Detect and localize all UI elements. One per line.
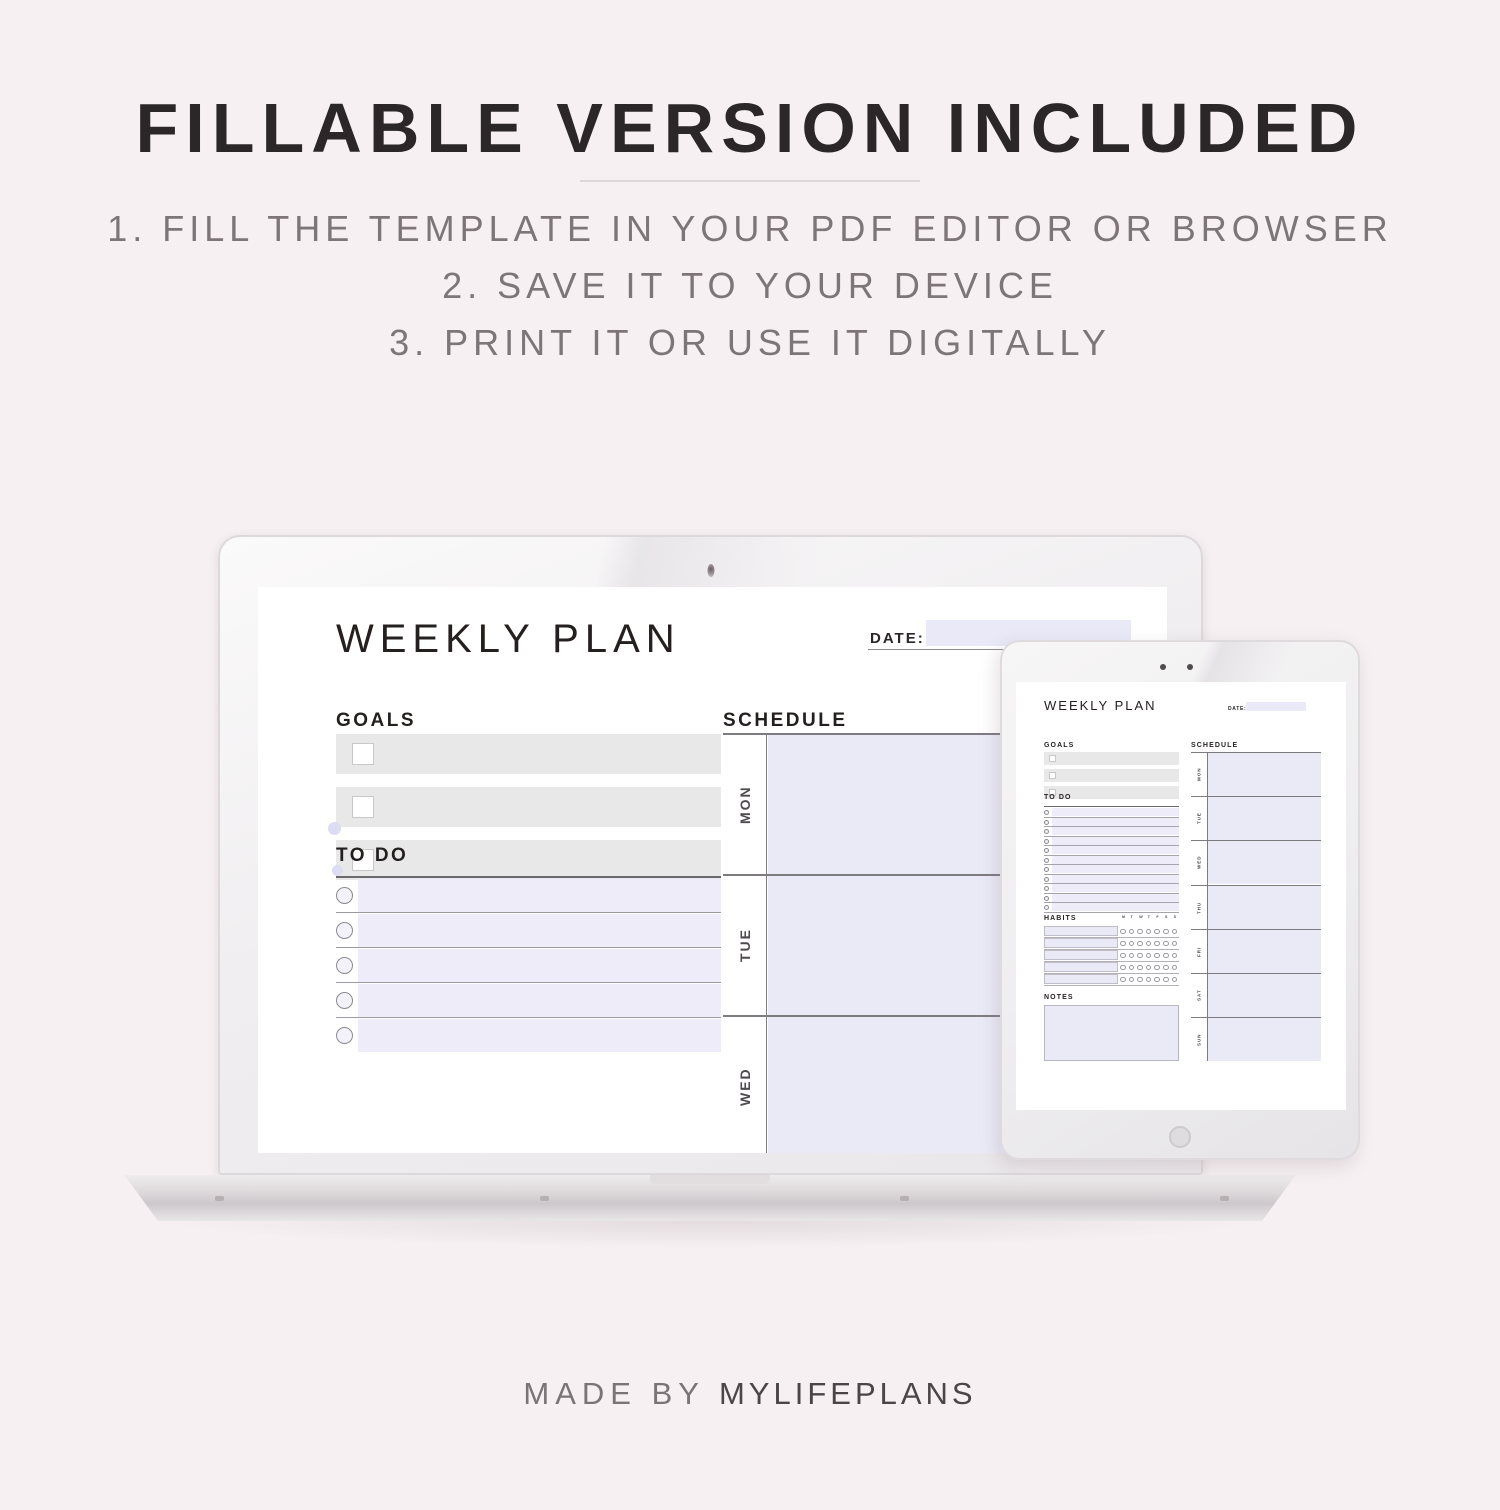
habit-checkbox[interactable]	[1129, 941, 1135, 947]
todo-checkbox[interactable]	[1044, 848, 1049, 853]
todo-row-rule	[336, 982, 721, 983]
schedule-day-label-wed: WED	[1192, 841, 1206, 884]
goal-checkbox[interactable]	[352, 743, 374, 765]
todo-top-rule	[1044, 806, 1179, 807]
tablet-frame: WEEKLY PLAN DATE: GOALS TO DO HABITS MTW…	[1000, 640, 1360, 1160]
todo-checkbox[interactable]	[1044, 905, 1049, 910]
habit-checkbox[interactable]	[1137, 977, 1143, 983]
schedule-day-label-sun: SUN	[1192, 1018, 1206, 1061]
goal-row[interactable]	[1044, 752, 1179, 765]
habit-checkbox[interactable]	[1172, 941, 1178, 947]
habits-heading: HABITS	[1044, 915, 1077, 922]
todo-heading: TO DO	[1044, 794, 1072, 801]
todo-row[interactable]	[358, 984, 721, 1017]
habit-checkbox[interactable]	[1154, 953, 1160, 959]
todo-row[interactable]	[1052, 865, 1179, 873]
laptop-hinge-notch	[650, 1175, 770, 1184]
schedule-day-label-tue: TUE	[728, 876, 762, 1015]
laptop-foot	[900, 1196, 909, 1201]
todo-row[interactable]	[1052, 894, 1179, 902]
instruction-step-1: 1. FILL THE TEMPLATE IN YOUR PDF EDITOR …	[0, 200, 1500, 257]
todo-checkbox[interactable]	[336, 992, 353, 1009]
todo-row[interactable]	[358, 1019, 721, 1052]
date-label: DATE:	[1228, 706, 1246, 712]
todo-checkbox[interactable]	[1044, 896, 1049, 901]
habit-row[interactable]	[1044, 926, 1118, 936]
habit-day-initial: T	[1148, 915, 1150, 919]
todo-row-rule	[336, 912, 721, 913]
goals-heading: GOALS	[336, 710, 416, 732]
habit-checkbox[interactable]	[1172, 929, 1178, 935]
schedule-row-rule	[1191, 973, 1321, 974]
todo-checkbox[interactable]	[336, 1027, 353, 1044]
todo-row[interactable]	[358, 914, 721, 947]
todo-top-rule	[336, 876, 721, 878]
goal-checkbox[interactable]	[1049, 755, 1056, 762]
habit-row[interactable]	[1044, 950, 1118, 960]
schedule-cell[interactable]	[1208, 797, 1321, 840]
habit-checkbox[interactable]	[1163, 965, 1169, 971]
goal-row[interactable]	[336, 787, 721, 827]
schedule-cell[interactable]	[1208, 1018, 1321, 1061]
habit-checkbox[interactable]	[1137, 941, 1143, 947]
habit-row-rule	[1044, 985, 1179, 986]
goals-heading: GOALS	[1044, 742, 1074, 749]
todo-checkbox[interactable]	[336, 957, 353, 974]
habit-checkbox[interactable]	[1163, 977, 1169, 983]
habit-row[interactable]	[1044, 962, 1118, 972]
todo-row[interactable]	[1052, 827, 1179, 835]
habit-day-initial: F	[1156, 915, 1158, 919]
todo-row-rule	[336, 947, 721, 948]
schedule-row-rule	[1191, 1017, 1321, 1018]
todo-row[interactable]	[358, 879, 721, 912]
todo-checkbox[interactable]	[1044, 886, 1049, 891]
webcam-icon	[707, 564, 714, 577]
laptop-drop-shadow	[170, 1221, 1250, 1247]
schedule-row-rule	[1191, 885, 1321, 886]
habit-row[interactable]	[1044, 974, 1118, 984]
schedule-row-rule	[1191, 929, 1321, 930]
todo-checkbox[interactable]	[1044, 810, 1049, 815]
habit-checkbox[interactable]	[1163, 941, 1169, 947]
habit-checkbox[interactable]	[1129, 965, 1135, 971]
habit-row-rule	[1044, 949, 1179, 950]
weekly-plan-page-tablet: WEEKLY PLAN DATE: GOALS TO DO HABITS MTW…	[1016, 682, 1346, 1110]
home-button[interactable]	[1169, 1126, 1191, 1148]
todo-checkbox[interactable]	[1044, 877, 1049, 882]
instruction-step-2: 2. SAVE IT TO YOUR DEVICE	[0, 257, 1500, 314]
brand-name: MYLIFEPLANS	[719, 1376, 977, 1411]
habit-checkbox[interactable]	[1154, 929, 1160, 935]
notes-box[interactable]	[1044, 1005, 1179, 1061]
instruction-step-3: 3. PRINT IT OR USE IT DIGITALLY	[0, 314, 1500, 371]
schedule-day-label-wed: WED	[728, 1017, 762, 1153]
todo-checkbox[interactable]	[1044, 820, 1049, 825]
schedule-cell[interactable]	[1208, 930, 1321, 973]
habit-checkbox[interactable]	[1154, 965, 1160, 971]
todo-checkbox[interactable]	[336, 887, 353, 904]
title-divider	[580, 180, 920, 182]
schedule-day-label-tue: TUE	[1192, 797, 1206, 840]
habit-checkbox[interactable]	[1146, 941, 1152, 947]
schedule-cell[interactable]	[1208, 974, 1321, 1017]
tablet-screen: WEEKLY PLAN DATE: GOALS TO DO HABITS MTW…	[1016, 682, 1346, 1110]
schedule-heading: SCHEDULE	[1191, 742, 1238, 749]
goal-checkbox[interactable]	[1049, 772, 1056, 779]
habit-day-initial: T	[1131, 915, 1133, 919]
date-label: DATE:	[870, 630, 925, 647]
schedule-divider-vertical	[766, 733, 767, 1153]
camera-icon	[1160, 664, 1166, 670]
schedule-day-label-mon: MON	[1192, 753, 1206, 796]
todo-row[interactable]	[1052, 818, 1179, 826]
todo-heading: TO DO	[336, 845, 408, 867]
habit-checkbox[interactable]	[1129, 953, 1135, 959]
todo-row-rule	[1044, 912, 1179, 913]
schedule-day-label-fri: FRI	[1192, 930, 1206, 973]
habit-checkbox[interactable]	[1137, 953, 1143, 959]
made-by-label: MADE BY	[523, 1376, 719, 1411]
habit-row[interactable]	[1044, 938, 1118, 948]
habit-checkbox[interactable]	[1120, 953, 1126, 959]
habit-checkbox[interactable]	[1146, 953, 1152, 959]
habit-checkbox[interactable]	[1129, 929, 1135, 935]
habit-checkbox[interactable]	[1172, 977, 1178, 983]
todo-row-rule	[336, 1017, 721, 1018]
goal-row[interactable]	[1044, 769, 1179, 782]
todo-checkbox[interactable]	[1044, 829, 1049, 834]
habit-row-rule	[1044, 961, 1179, 962]
habit-checkbox[interactable]	[1137, 929, 1143, 935]
todo-checkbox[interactable]	[1044, 839, 1049, 844]
todo-checkbox[interactable]	[1044, 867, 1049, 872]
schedule-heading: SCHEDULE	[723, 710, 848, 732]
habit-checkbox[interactable]	[1120, 965, 1126, 971]
planner-title: WEEKLY PLAN	[336, 617, 681, 662]
habit-row-rule	[1044, 937, 1179, 938]
schedule-day-label-sat: SAT	[1192, 974, 1206, 1017]
goal-checkbox[interactable]	[352, 796, 374, 818]
todo-checkbox[interactable]	[336, 922, 353, 939]
habit-day-initial: W	[1139, 915, 1142, 919]
schedule-row-rule	[1191, 796, 1321, 797]
notes-heading: NOTES	[1044, 994, 1074, 1001]
habit-checkbox[interactable]	[1154, 977, 1160, 983]
habit-checkbox[interactable]	[1172, 965, 1178, 971]
habit-checkbox[interactable]	[1146, 965, 1152, 971]
todo-row[interactable]	[1052, 837, 1179, 845]
todo-row[interactable]	[1052, 875, 1179, 883]
todo-row[interactable]	[1052, 808, 1179, 816]
tablet-mockup: WEEKLY PLAN DATE: GOALS TO DO HABITS MTW…	[1000, 640, 1360, 1160]
poster-canvas: FILLABLE VERSION INCLUDED 1. FILL THE TE…	[0, 0, 1500, 1510]
todo-row[interactable]	[1052, 903, 1179, 911]
laptop-foot	[1220, 1196, 1229, 1201]
sensor-icon	[1187, 664, 1193, 670]
habit-checkbox[interactable]	[1120, 941, 1126, 947]
goal-row[interactable]	[336, 734, 721, 774]
footer-credit: MADE BY MYLIFEPLANS	[0, 1376, 1500, 1412]
habit-day-initial: S	[1174, 915, 1176, 919]
schedule-cell[interactable]	[1208, 841, 1321, 884]
date-input[interactable]	[1246, 702, 1306, 711]
schedule-day-label-thu: THU	[1192, 886, 1206, 929]
todo-row[interactable]	[358, 949, 721, 982]
todo-row[interactable]	[1052, 856, 1179, 864]
schedule-row-rule	[1191, 840, 1321, 841]
planner-title: WEEKLY PLAN	[1044, 698, 1157, 713]
habit-row-rule	[1044, 973, 1179, 974]
laptop-foot	[215, 1196, 224, 1201]
schedule-day-label-mon: MON	[728, 735, 762, 874]
habit-checkbox[interactable]	[1146, 977, 1152, 983]
habit-checkbox[interactable]	[1172, 953, 1178, 959]
habit-checkbox[interactable]	[1120, 977, 1126, 983]
todo-row[interactable]	[1052, 884, 1179, 892]
laptop-foot	[540, 1196, 549, 1201]
habit-checkbox[interactable]	[1137, 965, 1143, 971]
todo-checkbox[interactable]	[1044, 858, 1049, 863]
schedule-cell[interactable]	[1208, 886, 1321, 929]
instruction-list: 1. FILL THE TEMPLATE IN YOUR PDF EDITOR …	[0, 200, 1500, 371]
habit-day-initial: S	[1165, 915, 1167, 919]
habit-day-initial: M	[1122, 915, 1125, 919]
habit-checkbox[interactable]	[1163, 953, 1169, 959]
habit-checkbox[interactable]	[1163, 929, 1169, 935]
habit-checkbox[interactable]	[1129, 977, 1135, 983]
habit-checkbox[interactable]	[1154, 941, 1160, 947]
habit-checkbox[interactable]	[1120, 929, 1126, 935]
schedule-cell[interactable]	[1208, 753, 1321, 796]
page-title: FILLABLE VERSION INCLUDED	[0, 88, 1500, 168]
decorative-dot	[328, 822, 341, 835]
todo-row[interactable]	[1052, 846, 1179, 854]
habit-checkbox[interactable]	[1146, 929, 1152, 935]
